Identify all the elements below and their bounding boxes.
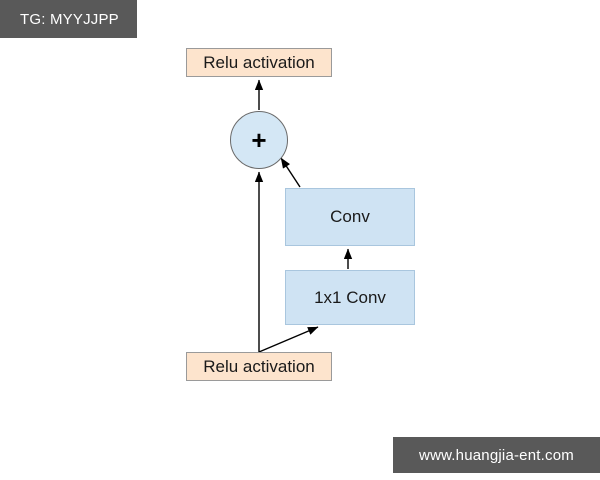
diagram-canvas: Relu activation + Conv 1x1 Conv Relu act… [0,0,600,480]
node-relu-activation-top: Relu activation [186,48,332,77]
node-conv: Conv [285,188,415,246]
edge-conv-to-add [281,158,300,187]
watermark-badge-top: TG: MYYJJPP [0,0,137,38]
edge-relu-bottom-to-conv-1x1 [259,327,318,352]
node-relu-activation-bottom: Relu activation [186,352,332,381]
watermark-badge-bottom: www.huangjia-ent.com [393,437,600,473]
node-add-operator: + [230,111,288,169]
node-conv-1x1: 1x1 Conv [285,270,415,325]
